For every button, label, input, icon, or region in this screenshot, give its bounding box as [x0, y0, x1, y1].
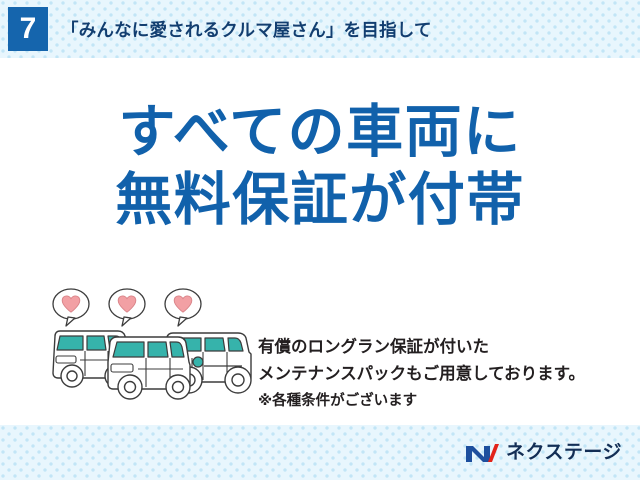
- caption-line-2: メンテナンスパックもご用意しております。: [258, 361, 628, 388]
- header-band: 7 「みんなに愛されるクルマ屋さん」を目指して: [0, 0, 640, 58]
- cars-illustration-svg: [46, 286, 261, 404]
- promo-slide: 7 「みんなに愛されるクルマ屋さん」を目指して すべての車両に 無料保証が付帯: [0, 0, 640, 480]
- lower-section: 有償のロングラン保証が付いた メンテナンスパックもご用意しております。 ※各種条…: [0, 286, 640, 416]
- footer-content: ネクステージ: [0, 425, 640, 480]
- step-number-badge: 7: [8, 7, 48, 51]
- headline-line-1: すべての車両に: [0, 98, 640, 166]
- caption-line-1: 有償のロングラン保証が付いた: [258, 334, 628, 361]
- brand-name: ネクステージ: [506, 443, 622, 462]
- caption-block: 有償のロングラン保証が付いた メンテナンスパックもご用意しております。 ※各種条…: [258, 334, 628, 413]
- brand-lockup: ネクステージ: [465, 441, 622, 465]
- header-content: 7 「みんなに愛されるクルマ屋さん」を目指して: [0, 0, 640, 58]
- main-content: すべての車両に 無料保証が付帯: [0, 58, 640, 425]
- car-minivan: [108, 337, 190, 399]
- caption-note: ※各種条件がございます: [258, 389, 628, 413]
- header-title: 「みんなに愛されるクルマ屋さん」を目指して: [61, 17, 432, 42]
- nexstage-n-logo-icon: [465, 441, 499, 465]
- headline: すべての車両に 無料保証が付帯: [0, 98, 640, 235]
- cars-illustration: [46, 286, 261, 404]
- footer-band: ネクステージ: [0, 425, 640, 480]
- headline-line-2: 無料保証が付帯: [0, 166, 640, 234]
